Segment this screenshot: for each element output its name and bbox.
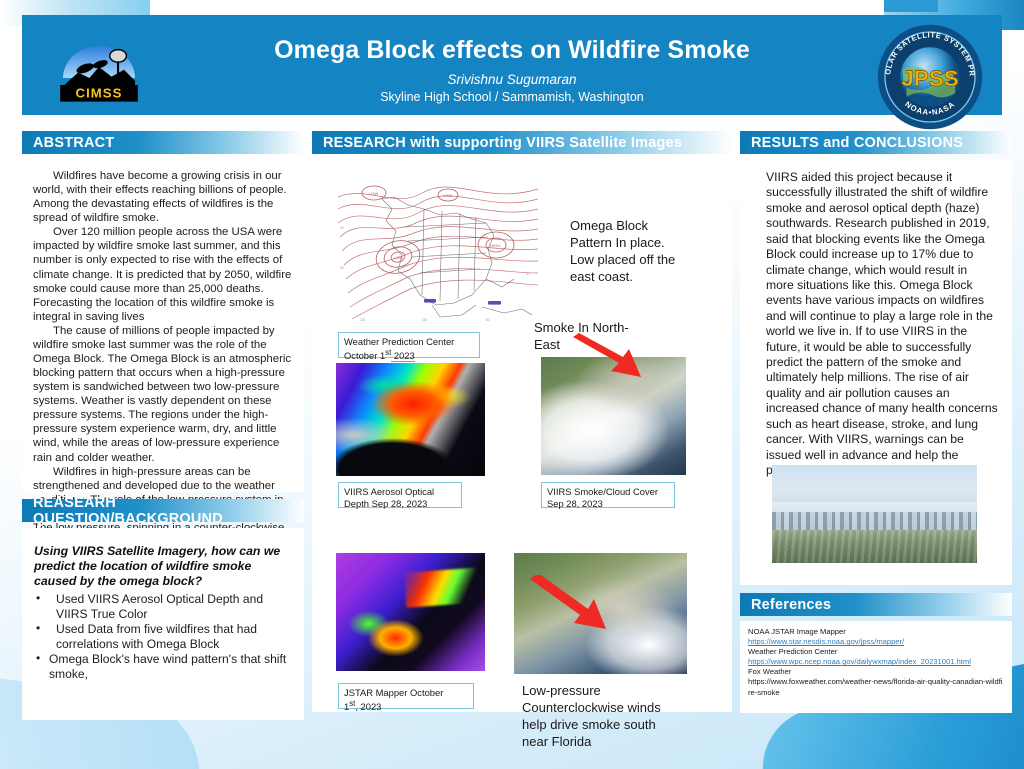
- viirs-smoke-cloud-cover-image: [541, 357, 686, 475]
- decorative-swoosh-top-right-accent: [884, 0, 938, 12]
- jstar-mapper-image: [336, 553, 485, 671]
- reference-label-1: NOAA JSTAR Image Mapper: [748, 627, 1005, 637]
- banner-text-block: Omega Block effects on Wildfire Smoke Sr…: [22, 37, 1002, 104]
- hazy-city-skyline-photo: [772, 465, 977, 563]
- list-item: Used Data from five wildfires that had c…: [34, 622, 293, 652]
- svg-text:LOW: LOW: [369, 191, 378, 196]
- arrow-smoke-northeast-icon: [571, 333, 649, 393]
- list-item: Used VIIRS Aerosol Optical Depth and VII…: [34, 592, 293, 622]
- caption-viirs-aod: VIIRS Aerosol Optical Depth Sep 28, 2023: [338, 482, 462, 508]
- caption-line-2-pre: October 1: [344, 350, 385, 361]
- viirs-aerosol-optical-depth-image: [336, 363, 485, 476]
- research-question-body: Using VIIRS Satellite Imagery, how can w…: [22, 528, 304, 682]
- title-banner: CIMSS JPSS JOINT POLAR SATELLITE SYSTEM …: [22, 15, 1002, 115]
- weather-prediction-center-map: LOWHIGH LOWLOW 4030120 1008060: [336, 179, 540, 325]
- caption-line-2: Sep 28, 2023: [547, 498, 603, 509]
- references-panel: NOAA JSTAR Image Mapper https://www.star…: [740, 621, 1012, 713]
- results-body: VIIRS aided this project because it succ…: [740, 160, 1012, 478]
- svg-text:100: 100: [422, 318, 428, 322]
- references-list: NOAA JSTAR Image Mapper https://www.star…: [740, 621, 1012, 698]
- svg-text:30: 30: [340, 266, 344, 270]
- research-question-panel: Using VIIRS Satellite Imagery, how can w…: [22, 528, 304, 720]
- svg-text:LOW: LOW: [443, 193, 452, 198]
- caption-viirs-smoke: VIIRS Smoke/Cloud Cover Sep 28, 2023: [541, 482, 675, 508]
- section-header-results: RESULTS and CONCLUSIONS: [740, 131, 1012, 154]
- aod-landmass-overlay: [336, 413, 485, 476]
- abstract-paragraph-2: Over 120 million people across the USA w…: [33, 225, 293, 324]
- caption-line-1: JSTAR Mapper October: [344, 687, 443, 698]
- caption-line-1: VIIRS Smoke/Cloud Cover: [547, 486, 658, 497]
- reference-link-3: https://www.foxweather.com/weather-news/…: [748, 677, 1005, 697]
- author-name: Srivishnu Sugumaran: [22, 72, 1002, 87]
- svg-text:120: 120: [360, 318, 366, 322]
- svg-text:HIGH: HIGH: [490, 243, 500, 248]
- abstract-panel: Wildfires have become a growing crisis i…: [22, 160, 304, 492]
- page-title: Omega Block effects on Wildfire Smoke: [22, 37, 1002, 65]
- note-omega-block: Omega Block Pattern In place. Low placed…: [570, 218, 690, 286]
- reference-link-1[interactable]: https://www.star.nesdis.noaa.gov/jpss/ma…: [748, 637, 1005, 647]
- research-question-bullet-list: Used VIIRS Aerosol Optical Depth and VII…: [34, 592, 293, 683]
- reference-label-2: Weather Prediction Center: [748, 647, 1005, 657]
- reference-label-3: Fox Weather: [748, 667, 1005, 677]
- reference-link-2[interactable]: https://www.wpc.ncep.noaa.gov/dailywxmap…: [748, 657, 1005, 667]
- caption-line-1: VIIRS Aerosol Optical: [344, 486, 434, 497]
- affiliation: Skyline High School / Sammamish, Washing…: [22, 90, 1002, 104]
- results-panel: VIIRS aided this project because it succ…: [740, 160, 1012, 585]
- caption-jstar-mapper: JSTAR Mapper October 1st, 2023: [338, 683, 474, 709]
- svg-text:60: 60: [526, 272, 530, 276]
- section-header-references: References: [740, 593, 1012, 616]
- photo-ground-layer: [772, 530, 977, 563]
- poster-canvas: CIMSS JPSS JOINT POLAR SATELLITE SYSTEM …: [0, 0, 1024, 769]
- caption-line-1: Weather Prediction Center: [344, 336, 454, 347]
- section-header-research-question: REASEARH QUESTION/BACKGROUND: [22, 499, 304, 522]
- research-question-text: Using VIIRS Satellite Imagery, how can w…: [34, 544, 293, 590]
- arrow-low-pressure-icon: [528, 575, 612, 635]
- caption-line-2-post: 2023: [391, 350, 414, 362]
- abstract-paragraph-3: The cause of millions of people impacted…: [33, 324, 293, 465]
- section-header-abstract: ABSTRACT: [22, 131, 304, 154]
- svg-text:40: 40: [340, 226, 344, 230]
- jstar-smoke-plume-overlay: [403, 567, 483, 608]
- caption-line-2-post: , 2023: [355, 701, 381, 712]
- caption-line-2: Depth Sep 28, 2023: [344, 498, 427, 509]
- note-low-pressure-winds: Low-pressure Counterclockwise winds help…: [522, 683, 672, 751]
- florida-smoke-image: [514, 553, 687, 674]
- svg-text:80: 80: [486, 318, 490, 322]
- section-header-research: RESEARCH with supporting VIIRS Satellite…: [312, 131, 732, 154]
- caption-weather-prediction-center: Weather Prediction Center October 1st 20…: [338, 332, 480, 358]
- abstract-paragraph-1: Wildfires have become a growing crisis i…: [33, 169, 293, 225]
- svg-text:LOW: LOW: [394, 255, 403, 260]
- research-panel: LOWHIGH LOWLOW 4030120 1008060 Weather P…: [312, 160, 732, 712]
- list-item: Omega Block's have wind pattern's that s…: [34, 652, 293, 682]
